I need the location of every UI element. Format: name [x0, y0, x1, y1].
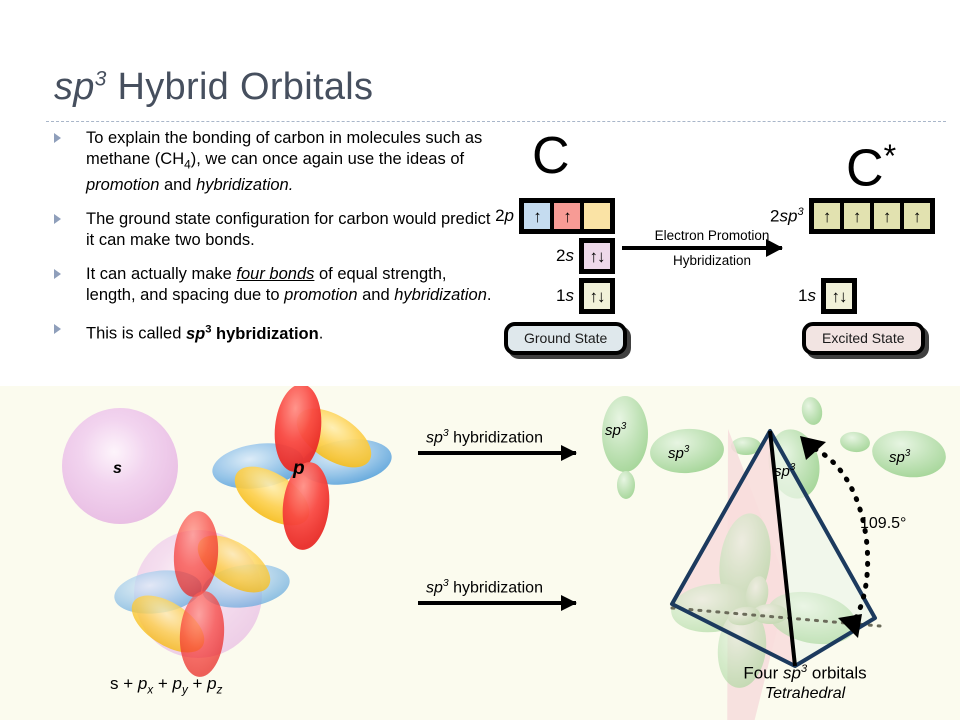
- orbital-box: ↑: [902, 201, 932, 231]
- ground-state-atom-symbol: C: [532, 130, 570, 182]
- bullet-2-text: The ground state configuration for carbo…: [86, 209, 499, 251]
- bullet-triangle-icon: [54, 214, 61, 224]
- title-sp: sp: [54, 66, 95, 108]
- orbital-box: ↑↓: [824, 281, 854, 311]
- sp3-orbital-2: [649, 426, 761, 475]
- tetrahedron-caption: Four sp3 orbitals Tetrahedral: [690, 663, 920, 703]
- sp3-orbital-1: [602, 396, 648, 499]
- arrow-shaft: [418, 601, 576, 605]
- sum-formula-label: s + px + py + pz: [110, 674, 222, 696]
- orbital-box: ↑: [842, 201, 872, 231]
- ground-2p-boxes: ↑ ↑: [519, 198, 615, 234]
- list-item: To explain the bonding of carbon in mole…: [44, 128, 499, 196]
- combined-orbital-cluster: [112, 510, 293, 679]
- hybridization-arrow-top: sp3 hybridization: [418, 428, 598, 455]
- promotion-arrow-group: Electron Promotion Hybridization: [622, 228, 802, 268]
- ground-row-2s: 2s ↑↓: [480, 238, 615, 274]
- arrow-head-icon: [766, 239, 783, 257]
- excited-asterisk: *: [884, 138, 897, 174]
- ground-row-2p: 2p ↑ ↑: [480, 198, 615, 234]
- s-orbital-label: s: [113, 460, 122, 478]
- arrow-shaft: [622, 246, 782, 250]
- excited-2sp3-boxes: ↑ ↑ ↑ ↑: [809, 198, 935, 234]
- ground-2s-label: 2s: [556, 246, 574, 266]
- arrow-head-icon: [561, 595, 577, 611]
- status-badge-ground-state: Ground State: [504, 322, 627, 355]
- arrow-head-icon: [561, 445, 577, 461]
- orbital-box: ↑↓: [582, 241, 612, 271]
- ground-1s-label: 1s: [556, 286, 574, 306]
- orbital-box: ↑: [812, 201, 842, 231]
- list-item: It can actually make four bonds of equal…: [44, 264, 499, 306]
- page-title: sp3 Hybrid Orbitals: [54, 66, 373, 109]
- list-item: This is called sp3 hybridization.: [44, 319, 499, 345]
- bullet-3-text: It can actually make four bonds of equal…: [86, 264, 499, 306]
- list-item: The ground state configuration for carbo…: [44, 209, 499, 251]
- orbital-box: ↑: [522, 201, 552, 231]
- orbital-energy-diagram: C C* 2p ↑ ↑ 2s ↑↓ 1s ↑↓: [480, 130, 960, 365]
- sp3-label-3: sp3: [774, 462, 795, 480]
- hybridization-arrow-bottom: sp3 hybridization: [418, 578, 598, 605]
- excited-2sp3-label: 2sp3: [770, 206, 804, 227]
- sp3-label-4: sp3: [889, 448, 910, 466]
- slide-root: sp3 Hybrid Orbitals To explain the bondi…: [0, 0, 960, 720]
- arrow-shaft: [418, 451, 576, 455]
- status-badge-excited-state: Excited State: [802, 322, 925, 355]
- caption-line-2: Tetrahedral: [690, 685, 920, 703]
- excited-row-2sp3: 2sp3 ↑ ↑ ↑ ↑: [770, 198, 935, 234]
- ground-2p-label: 2p: [495, 206, 514, 226]
- bullet-triangle-icon: [54, 324, 61, 334]
- sp3-label-2: sp3: [668, 444, 689, 462]
- bullet-1-text: To explain the bonding of carbon in mole…: [86, 128, 499, 196]
- excited-state-atom-symbol: C*: [846, 130, 896, 194]
- orbital-box: ↑↓: [582, 281, 612, 311]
- bullet-triangle-icon: [54, 269, 61, 279]
- title-rest: Hybrid Orbitals: [107, 66, 374, 108]
- p-orbital-label: p: [293, 458, 305, 480]
- ground-row-1s: 1s ↑↓: [480, 278, 615, 314]
- orbital-box: [582, 201, 612, 231]
- excited-1s-label: 1s: [798, 286, 816, 306]
- title-superscript: 3: [95, 67, 107, 90]
- title-divider: [46, 121, 946, 122]
- bullet-4-text: This is called sp3 hybridization.: [86, 319, 499, 345]
- ground-1s-boxes: ↑↓: [579, 278, 615, 314]
- bullet-triangle-icon: [54, 133, 61, 143]
- bullet-list: To explain the bonding of carbon in mole…: [44, 128, 499, 358]
- orbital-box: ↑: [872, 201, 902, 231]
- bond-angle-label: 109.5°: [860, 515, 906, 533]
- ground-2s-boxes: ↑↓: [579, 238, 615, 274]
- excited-1s-boxes: ↑↓: [821, 278, 857, 314]
- sp3-label-1: sp3: [605, 421, 626, 439]
- excited-row-1s: 1s ↑↓: [798, 278, 857, 314]
- caption-line-1: Four sp3 orbitals: [690, 663, 920, 684]
- orbital-box: ↑: [552, 201, 582, 231]
